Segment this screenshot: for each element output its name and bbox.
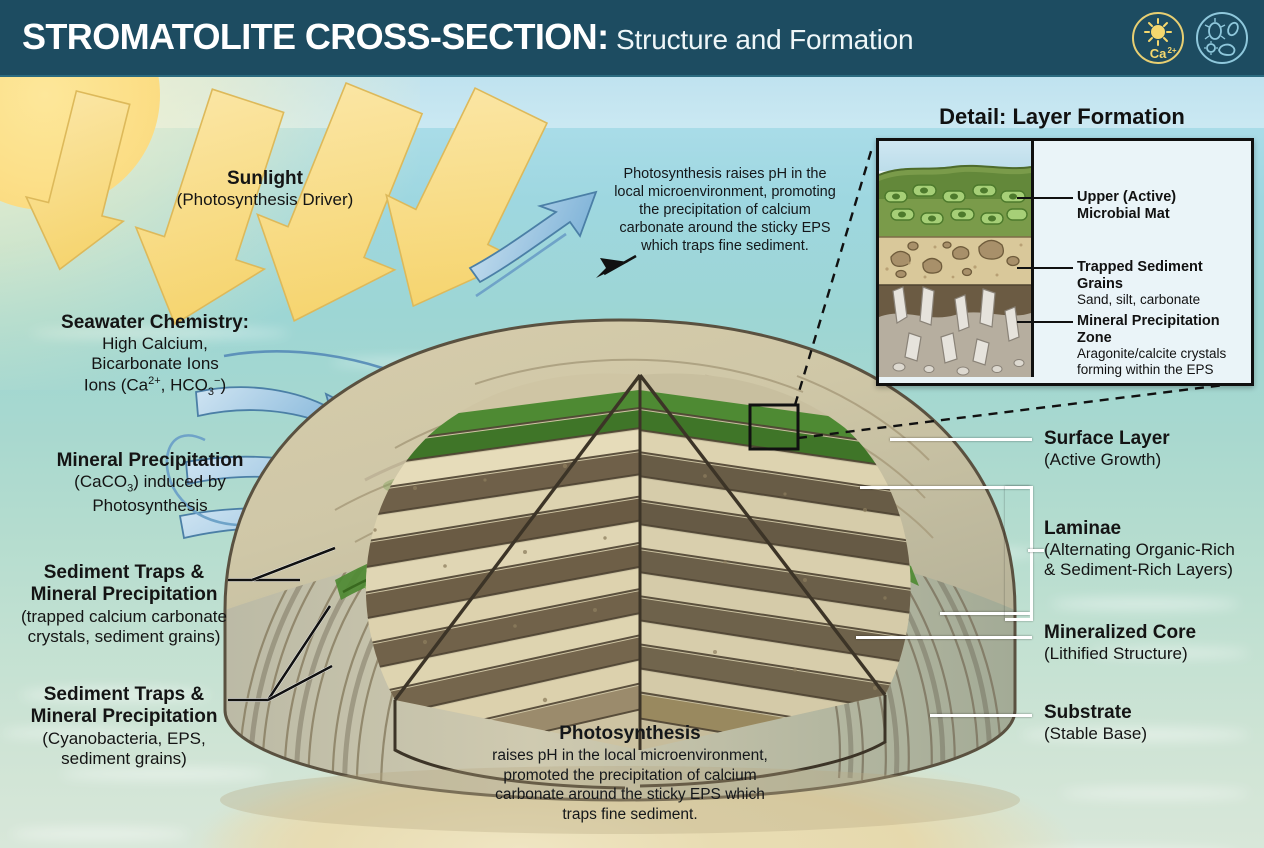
surface-detail: (Active Growth): [1044, 450, 1259, 470]
label-mineralized-core: Mineralized Core (Lithified Structure): [1044, 622, 1259, 664]
leader-surface-layer: [890, 438, 1032, 441]
laminae-brace: [1005, 486, 1033, 621]
paragraph-photosynthesis-note: Photosynthesis raises pH in the local mi…: [580, 166, 870, 256]
mineralprec-heading: Mineral Precipitation: [30, 450, 270, 472]
caption-heading: Photosynthesis: [450, 722, 810, 746]
label-sunlight: Sunlight (Photosynthesis Driver): [150, 168, 380, 210]
detail-row-2-heading1: Mineral Precipitation Zone: [1077, 313, 1249, 346]
label-sediment-traps-upper: Sediment Traps & Mineral Precipitation (…: [0, 562, 248, 647]
detail-row-1-detail: Sand, silt, carbonate: [1077, 292, 1249, 308]
core-detail: (Lithified Structure): [1044, 644, 1259, 664]
detail-row-0-heading1: Upper (Active): [1077, 189, 1176, 206]
detail-layer-illustration: [879, 141, 1034, 377]
sunlight-detail: (Photosynthesis Driver): [150, 190, 380, 210]
surface-heading: Surface Layer: [1044, 428, 1259, 450]
mineralprec-line2: Photosynthesis: [30, 496, 270, 516]
laminae-detail2: & Sediment-Rich Layers): [1044, 560, 1264, 580]
mineralprec-line1: (CaCO3) induced by: [30, 472, 270, 495]
sunlight-arrow-1: [11, 85, 151, 281]
laminae-heading: Laminae: [1044, 518, 1264, 540]
caption-line2: promoted the precipitation of calcium: [503, 767, 756, 784]
detail-leader-1: [1017, 267, 1073, 269]
header-badges: Ca 2+: [1130, 10, 1250, 66]
title-sub: Structure and Formation: [608, 24, 913, 55]
sunlight-heading: Sunlight: [150, 168, 380, 190]
detail-row-2-detail2: forming within the EPS: [1077, 362, 1249, 378]
note-line1: Photosynthesis raises pH in the: [623, 166, 826, 182]
microbes-badge-icon: [1194, 10, 1250, 66]
sedtrap1-detail1: (trapped calcium carbonate: [0, 607, 248, 627]
sedtrap2-detail1: (Cyanobacteria, EPS,: [0, 729, 248, 749]
calcium-sun-badge-icon: Ca 2+: [1130, 10, 1186, 66]
detail-leader-0: [1017, 197, 1073, 199]
header-bar: STROMATOLITE CROSS-SECTION: Structure an…: [0, 0, 1264, 77]
label-surface-layer: Surface Layer (Active Growth): [1044, 428, 1259, 470]
page-title: STROMATOLITE CROSS-SECTION: Structure an…: [22, 16, 913, 58]
substrate-detail: (Stable Base): [1044, 724, 1259, 744]
sedtrap2-heading1: Sediment Traps &: [0, 684, 248, 706]
laminae-detail1: (Alternating Organic-Rich: [1044, 540, 1264, 560]
detail-row-mineral-precipitation-zone: Mineral Precipitation Zone Aragonite/cal…: [1077, 313, 1249, 378]
label-laminae: Laminae (Alternating Organic-Rich & Sedi…: [1044, 518, 1264, 581]
detail-rows: Upper (Active) Microbial Mat Trapped Sed…: [1037, 141, 1249, 377]
note-line5: which traps fine sediment.: [641, 238, 809, 254]
seawater-line1: High Calcium,: [30, 334, 280, 354]
core-heading: Mineralized Core: [1044, 622, 1259, 644]
caption-line4: traps fine sediment.: [562, 806, 697, 823]
detail-row-2-detail1: Aragonite/calcite crystals: [1077, 346, 1249, 362]
caption-line1: raises pH in the local microenvironment,: [492, 747, 768, 764]
detail-row-1-heading1: Trapped Sediment Grains: [1077, 259, 1249, 292]
detail-row-0-heading2: Microbial Mat: [1077, 206, 1176, 223]
paragraph-photosynthesis-caption: Photosynthesis raises pH in the local mi…: [450, 722, 810, 825]
note-line3: the precipitation of calcium: [639, 202, 811, 218]
note-arrow-icon: [596, 258, 628, 278]
seawater-line2: Bicarbonate Ions: [30, 354, 280, 374]
sedtrap1-detail2: crystals, sediment grains): [0, 627, 248, 647]
seawater-line3: Ions (Ca2+, HCO3−): [30, 375, 280, 399]
leader-substrate: [930, 714, 1032, 717]
detail-panel-title: Detail: Layer Formation: [876, 104, 1248, 130]
note-line4: carbonate around the sticky EPS: [619, 220, 830, 236]
label-sediment-traps-lower: Sediment Traps & Mineral Precipitation (…: [0, 684, 248, 769]
leader-mineralized-core: [856, 636, 1032, 639]
title-main: STROMATOLITE CROSS-SECTION:: [22, 16, 608, 57]
infographic-canvas: STROMATOLITE CROSS-SECTION: Structure an…: [0, 0, 1264, 848]
sedtrap1-heading2: Mineral Precipitation: [0, 584, 248, 606]
sedtrap2-detail2: sediment grains): [0, 749, 248, 769]
sedtrap1-heading1: Sediment Traps &: [0, 562, 248, 584]
label-mineral-precipitation: Mineral Precipitation (CaCO3) induced by…: [30, 450, 270, 516]
detail-leader-2: [1017, 321, 1073, 323]
label-seawater-chemistry: Seawater Chemistry: High Calcium, Bicarb…: [30, 312, 280, 399]
sedtrap2-heading2: Mineral Precipitation: [0, 706, 248, 728]
leader-laminae-stem: [1028, 549, 1044, 552]
substrate-heading: Substrate: [1044, 702, 1259, 724]
detail-row-trapped-sediment-grains: Trapped Sediment Grains Sand, silt, carb…: [1077, 259, 1249, 308]
note-line2: local microenvironment, promoting: [614, 184, 836, 200]
svg-text:Ca: Ca: [1150, 46, 1167, 61]
label-substrate: Substrate (Stable Base): [1044, 702, 1259, 744]
detail-row-upper-microbial-mat: Upper (Active) Microbial Mat: [1077, 189, 1176, 222]
svg-text:2+: 2+: [1167, 46, 1176, 55]
detail-panel: Upper (Active) Microbial Mat Trapped Sed…: [876, 138, 1254, 386]
seawater-heading: Seawater Chemistry:: [30, 312, 280, 334]
caption-line3: carbonate around the sticky EPS which: [495, 786, 765, 803]
